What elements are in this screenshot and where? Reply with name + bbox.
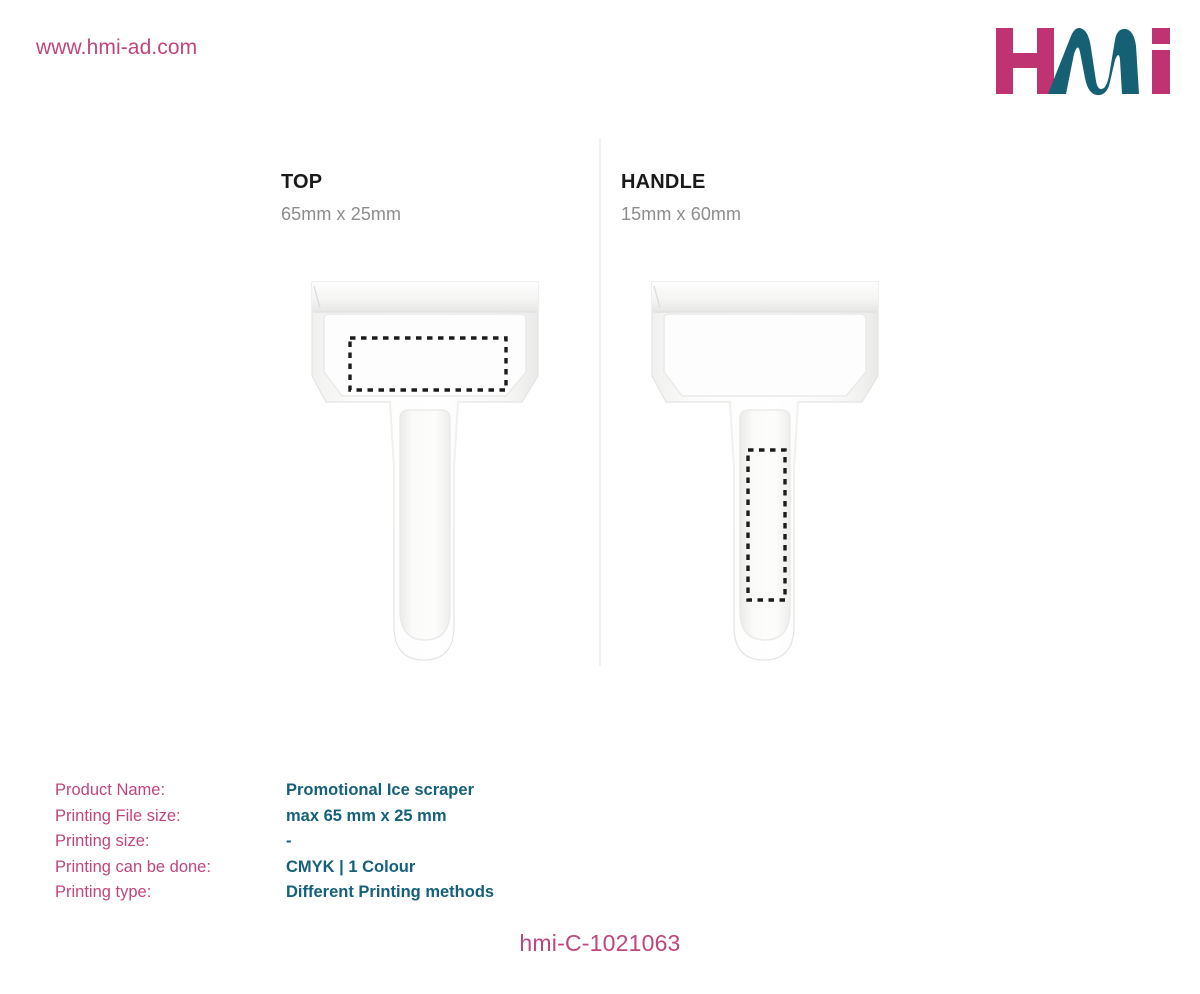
hmi-logo [996,26,1178,96]
view-title-top: TOP [281,170,581,194]
scraper-blade-edge [652,282,878,312]
view-panel-top: TOP 65mm x 25mm [281,170,581,225]
scraper-blade-edge [312,282,538,312]
spec-value: max 65 mm x 25 mm [286,804,447,830]
scraper-handle-panel [400,410,450,640]
view-title-handle: HANDLE [621,170,921,194]
spec-label: Printing File size: [55,804,286,830]
product-code-text: hmi-C-1021063 [0,930,1200,957]
spec-label: Printing size: [55,829,286,855]
spec-row-product-name: Product Name: Promotional Ice scraper [55,778,494,804]
view-dimensions-top: 65mm x 25mm [281,203,581,225]
product-spec-table: Product Name: Promotional Ice scraper Pr… [55,778,494,906]
spec-label: Printing type: [55,880,286,906]
view-panel-handle: HANDLE 15mm x 60mm [621,170,921,225]
site-url-text: www.hmi-ad.com [36,36,197,60]
scraper-head-panel [324,314,526,396]
spec-value: Promotional Ice scraper [286,778,474,804]
scraper-head-panel [664,314,866,396]
spec-row-printing-size: Printing size: - [55,829,494,855]
spec-value: - [286,829,292,855]
product-image-top-view [290,278,560,668]
panel-divider [599,138,601,666]
product-image-handle-view [630,278,900,668]
spec-label: Printing can be done: [55,855,286,881]
spec-row-printing-file-size: Printing File size: max 65 mm x 25 mm [55,804,494,830]
spec-value: Different Printing methods [286,880,494,906]
spec-row-printing-can-be-done: Printing can be done: CMYK | 1 Colour [55,855,494,881]
view-dimensions-handle: 15mm x 60mm [621,203,921,225]
spec-value: CMYK | 1 Colour [286,855,415,881]
spec-label: Product Name: [55,778,286,804]
spec-row-printing-type: Printing type: Different Printing method… [55,880,494,906]
